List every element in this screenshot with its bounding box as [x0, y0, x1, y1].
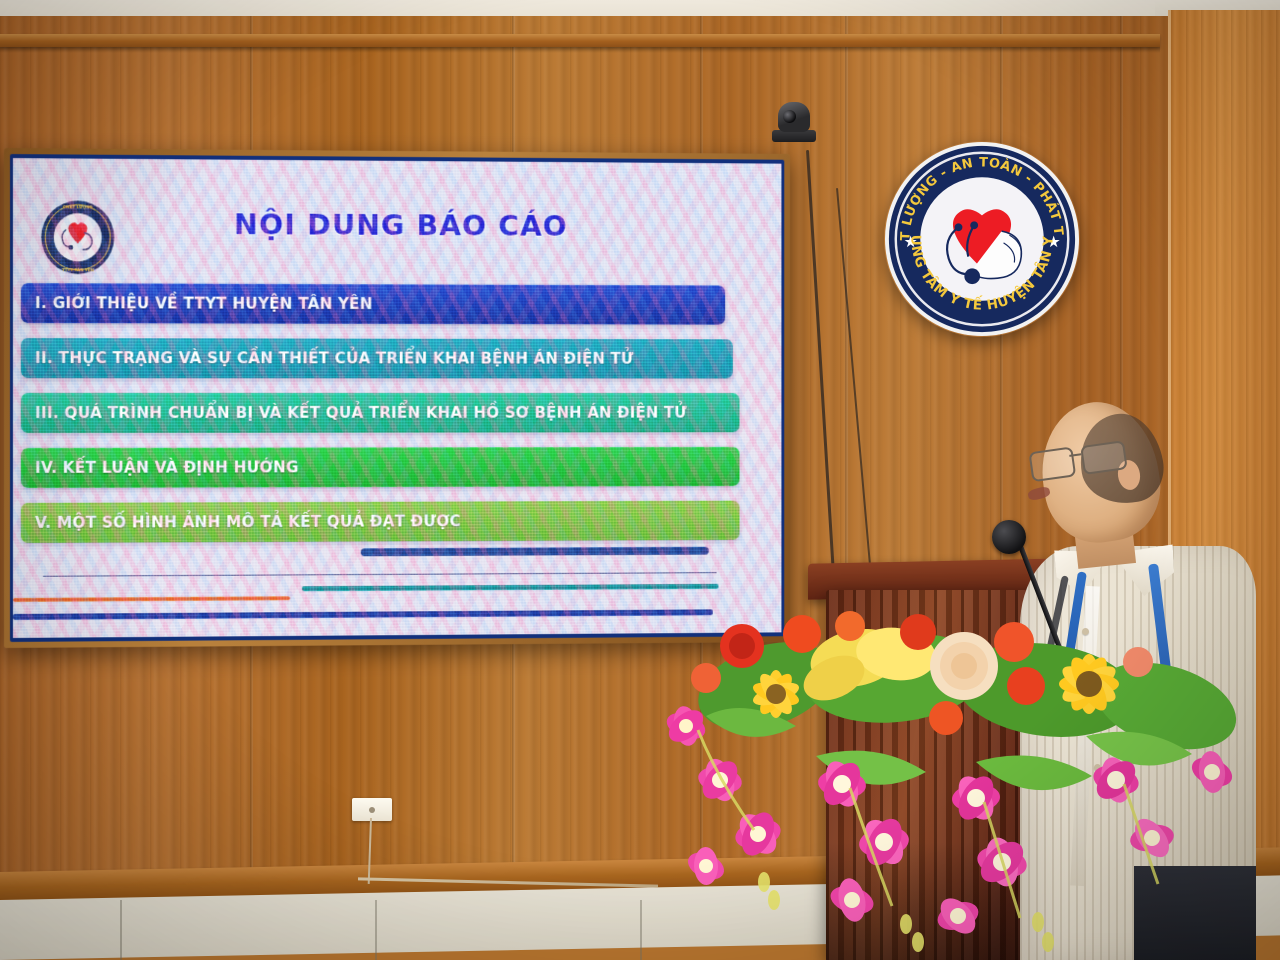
slide-decor-line-orange	[13, 596, 290, 602]
floor-tile-line	[375, 900, 377, 960]
slide-bar-label: IV. KẾT LUẬN VÀ ĐỊNH HƯỚNG	[21, 458, 299, 477]
eyeglass-lens-right	[1080, 440, 1128, 475]
slide-bar-3: III. QUÁ TRÌNH CHUẨN BỊ VÀ KẾT QUẢ TRIỂN…	[21, 393, 740, 433]
eyeglass-lens-left	[1028, 446, 1076, 482]
slide-content-bars: I. GIỚI THIỆU VỀ TTYT HUYỆN TÂN YÊN II. …	[21, 283, 740, 558]
outlet-hole	[369, 807, 375, 813]
cream-rose	[930, 632, 998, 700]
slide-bar-label: II. THỰC TRẠNG VÀ SỰ CẦN THIẾT CỦA TRIỂN…	[21, 349, 634, 368]
slide-bar-1: I. GIỚI THIỆU VỀ TTYT HUYỆN TÂN YÊN	[21, 283, 725, 325]
svg-text:TTYT TÂN YÊN: TTYT TÂN YÊN	[62, 267, 95, 272]
eyeglass-bridge	[1069, 453, 1081, 457]
conference-room-photo: CHẤT LƯỢNG TTYT TÂN YÊN NỘI DUNG BÁO CÁO…	[0, 0, 1280, 960]
slide-bar-label: V. MỘT SỐ HÌNH ẢNH MÔ TẢ KẾT QUẢ ĐẠT ĐƯỢ…	[21, 512, 461, 532]
camera-lens-icon	[783, 110, 796, 123]
slide-title: NỘI DUNG BÁO CÁO	[13, 206, 781, 244]
wall-emblem: ★ ★ CHẤT LƯỢNG - AN TOÀN - PHÁT TRIỂN TR…	[884, 141, 1080, 337]
wall-trim	[0, 34, 1160, 47]
slide-bar-4: IV. KẾT LUẬN VÀ ĐỊNH HƯỚNG	[21, 447, 740, 488]
slide-bar-label: III. QUÁ TRÌNH CHUẨN BỊ VÀ KẾT QUẢ TRIỂN…	[21, 404, 687, 422]
slide-bar-5: V. MỘT SỐ HÌNH ẢNH MÔ TẢ KẾT QUẢ ĐẠT ĐƯỢ…	[21, 501, 740, 543]
ptz-camera	[772, 96, 816, 142]
wall-trim-shadow	[0, 47, 1160, 53]
floor-tile-line	[120, 900, 122, 960]
slide-bar-2: II. THỰC TRẠNG VÀ SỰ CẦN THIẾT CỦA TRIỂN…	[21, 338, 732, 378]
floor-tile-line	[640, 900, 642, 960]
flower-arrangement	[646, 566, 1266, 960]
slide-decor-hairline	[43, 572, 717, 577]
slide-decor-bar-navy	[361, 547, 709, 557]
slide-decor-line-blue	[13, 609, 713, 620]
microphone-head	[992, 520, 1026, 554]
slide-bar-label: I. GIỚI THIỆU VỀ TTYT HUYỆN TÂN YÊN	[21, 294, 373, 313]
